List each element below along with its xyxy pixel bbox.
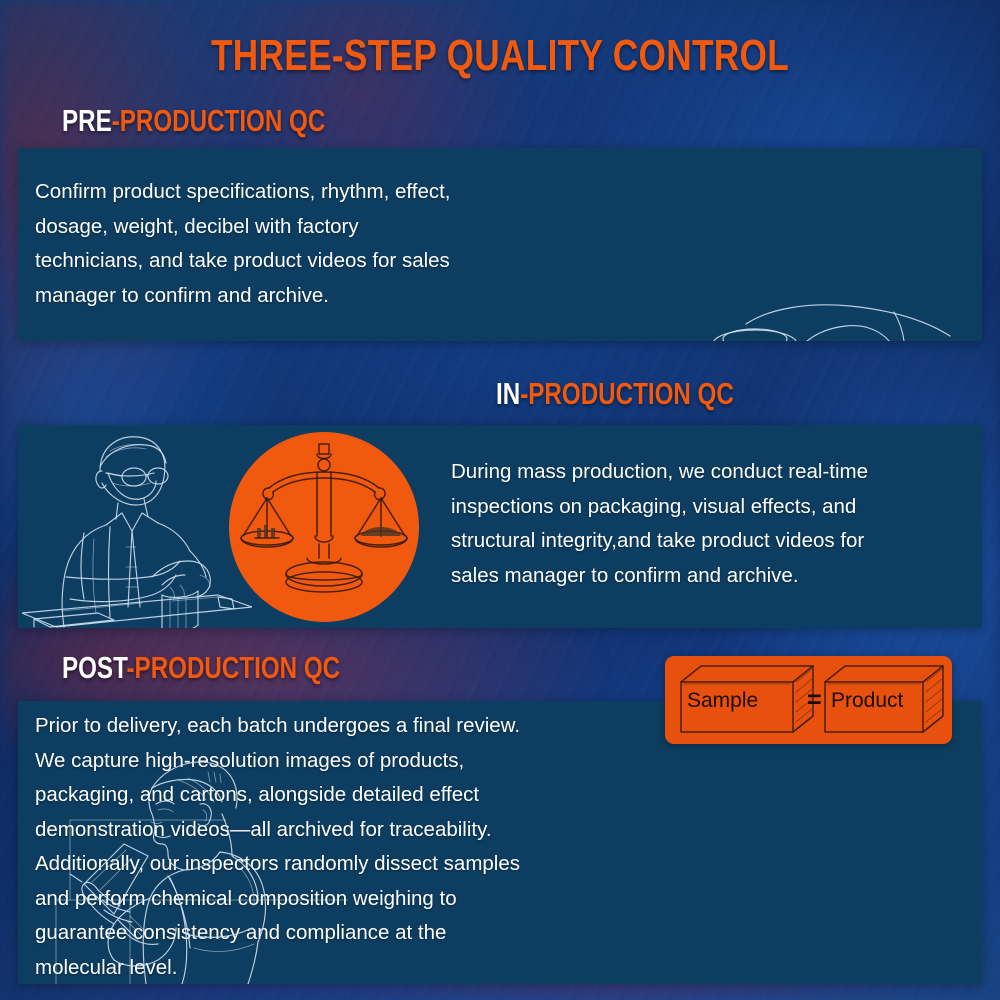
step-heading-post-orange: -PRODUCTION QC <box>127 650 341 685</box>
step-heading-pre-white: PRE <box>62 103 112 138</box>
product-label: Product <box>831 689 903 713</box>
page-title: THREE-STEP QUALITY CONTROL <box>100 34 900 78</box>
infographic-poster: THREE-STEP QUALITY CONTROL PRE-PRODUCTIO… <box>0 0 1000 1000</box>
sample-label: Sample <box>687 689 758 713</box>
panel-post-body-text: Prior to delivery, each batch undergoes … <box>35 709 665 984</box>
panel-pre-body-text: Confirm product specifications, rhythm, … <box>35 175 595 313</box>
panel-pre-production: Confirm product specifications, rhythm, … <box>18 148 982 341</box>
balance-scale-badge <box>229 432 419 622</box>
step-heading-in: IN-PRODUCTION QC <box>496 378 734 409</box>
step-heading-pre: PRE-PRODUCTION QC <box>62 105 325 136</box>
step-heading-in-white: IN <box>496 376 520 411</box>
balance-scale-icon <box>229 432 419 622</box>
step-heading-pre-orange: -PRODUCTION QC <box>112 103 326 138</box>
sample-equals-product-badge: Sample = Product <box>665 656 952 744</box>
step-heading-post-white: POST <box>62 650 127 685</box>
step-heading-in-orange: -PRODUCTION QC <box>520 376 734 411</box>
worker-inspection-illustration-icon <box>22 427 252 628</box>
equals-sign: = <box>807 686 822 715</box>
panel-in-body-text: During mass production, we conduct real-… <box>451 455 971 593</box>
hand-device-illustration-icon <box>650 296 980 341</box>
panel-in-production: During mass production, we conduct real-… <box>18 425 982 628</box>
step-heading-post: POST-PRODUCTION QC <box>62 652 340 683</box>
